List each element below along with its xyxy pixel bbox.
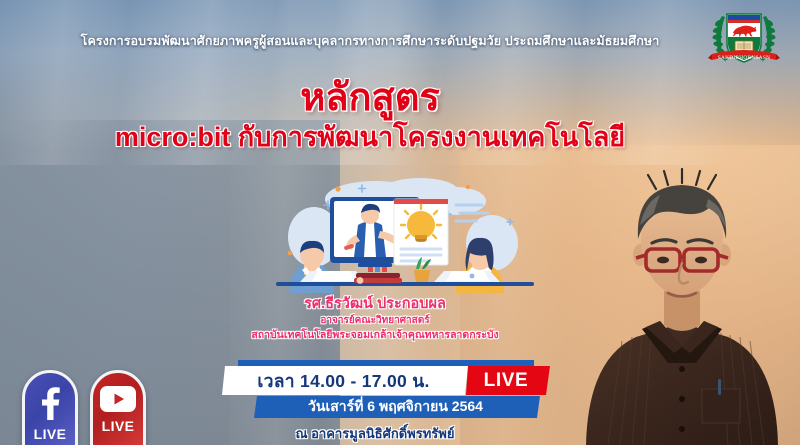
youtube-live-badge[interactable]: LIVE [90, 370, 146, 445]
page-subtitle: micro:bit กับการพัฒนาโครงงานเทคโนโลยี [0, 115, 740, 158]
speaker-institute: สถาบันเทคโนโลยีพระจอมเกล้าเจ้าคุณทหารลาด… [185, 328, 565, 342]
crest-ribbon-text: SAKDIBHORNSASN [718, 55, 770, 61]
speaker-portrait [578, 163, 794, 445]
live-badge: LIVE [466, 366, 546, 395]
schedule-time: เวลา 14.00 - 17.00 น. [222, 366, 465, 395]
facebook-live-label: LIVE [34, 426, 67, 442]
schedule-time-band: เวลา 14.00 - 17.00 น. LIVE [222, 366, 552, 395]
online-classroom-illustration [270, 175, 540, 293]
program-header-text: โครงการอบรมพัฒนาศักยภาพครูผู้สอนและบุคลา… [0, 31, 740, 51]
schedule-date: วันเสาร์ที่ 6 พฤศจิกายน 2564 [254, 396, 537, 418]
speaker-info: รศ.ธีรวัฒน์ ประกอบผล อาจารย์คณะวิทยาศาสต… [185, 296, 565, 342]
youtube-live-label: LIVE [102, 418, 135, 434]
seminar-poster: โครงการอบรมพัฒนาศักยภาพครูผู้สอนและบุคลา… [0, 0, 800, 445]
youtube-icon [100, 386, 136, 412]
speaker-name: รศ.ธีรวัฒน์ ประกอบผล [185, 296, 565, 312]
facebook-icon [38, 386, 62, 420]
school-crest-logo: SAKDIBHORNSASN [706, 6, 782, 68]
facebook-live-badge[interactable]: LIVE [22, 370, 78, 445]
speaker-role: อาจารย์คณะวิทยาศาสตร์ [185, 314, 565, 328]
venue-name: ณ อาคารมูลนิธิศักดิ์พรทรัพย์ [185, 423, 565, 444]
